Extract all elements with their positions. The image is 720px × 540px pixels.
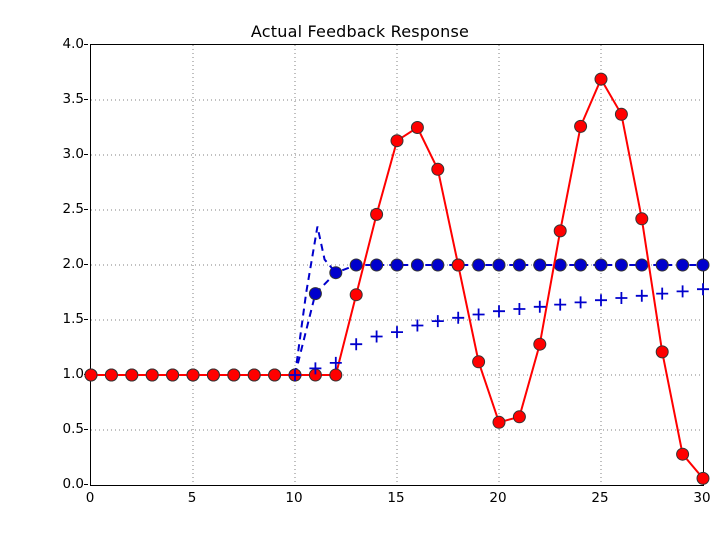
data-point-marker (85, 369, 97, 381)
y-tick-mark (84, 484, 88, 485)
data-point-marker (350, 289, 362, 301)
data-point-marker (248, 369, 260, 381)
y-tick-mark (84, 319, 88, 320)
data-point-marker (534, 338, 546, 350)
data-point-marker (615, 292, 627, 304)
data-point-marker (656, 346, 668, 358)
data-point-marker (350, 338, 362, 350)
data-point-marker (371, 259, 383, 271)
series-overshoot-spike (295, 227, 336, 376)
y-tick-mark (84, 99, 88, 100)
data-point-marker (207, 369, 219, 381)
data-point-marker (636, 290, 648, 302)
data-point-marker (411, 122, 423, 134)
data-point-marker (595, 294, 607, 306)
y-tick-label: 3.0 (40, 146, 84, 162)
data-point-marker (452, 312, 464, 324)
data-point-marker (187, 369, 199, 381)
x-tick-label: 10 (274, 490, 314, 506)
data-point-marker (677, 285, 689, 297)
data-point-marker (228, 369, 240, 381)
y-tick-label: 1.5 (40, 311, 84, 327)
data-point-marker (391, 259, 403, 271)
data-point-marker (697, 472, 709, 484)
y-tick-mark (84, 209, 88, 210)
data-point-marker (432, 259, 444, 271)
y-tick-mark (84, 264, 88, 265)
series-line (91, 265, 703, 375)
data-point-marker (105, 369, 117, 381)
data-point-marker (513, 411, 525, 423)
data-point-marker (432, 315, 444, 327)
x-tick-label: 15 (376, 490, 416, 506)
figure-canvas: Actual Feedback Response 0.00.51.01.52.0… (0, 0, 720, 540)
data-point-marker (513, 303, 525, 315)
data-point-marker (167, 369, 179, 381)
y-tick-label: 2.0 (40, 256, 84, 272)
series-line (295, 227, 336, 376)
data-point-marker (371, 331, 383, 343)
data-point-marker (126, 369, 138, 381)
y-tick-mark (84, 429, 88, 430)
data-point-marker (636, 259, 648, 271)
y-tick-label: 1.0 (40, 366, 84, 382)
page-title: Actual Feedback Response (0, 22, 720, 41)
data-point-marker (513, 259, 525, 271)
data-point-marker (595, 259, 607, 271)
data-point-marker (575, 296, 587, 308)
y-tick-mark (84, 154, 88, 155)
data-point-marker (330, 369, 342, 381)
data-point-marker (656, 259, 668, 271)
data-point-marker (473, 259, 485, 271)
data-point-marker (595, 73, 607, 85)
y-tick-mark (84, 44, 88, 45)
x-tick-label: 5 (172, 490, 212, 506)
data-point-marker (554, 259, 566, 271)
series-setpoint-reference (85, 259, 709, 381)
data-point-marker (473, 356, 485, 368)
data-point-marker (575, 120, 587, 132)
data-point-marker (473, 309, 485, 321)
x-tick-label: 0 (70, 490, 110, 506)
x-tick-label: 20 (478, 490, 518, 506)
data-point-marker (493, 259, 505, 271)
data-point-marker (411, 259, 423, 271)
x-tick-label: 30 (682, 490, 720, 506)
y-tick-label: 2.5 (40, 201, 84, 217)
y-tick-label: 0.5 (40, 421, 84, 437)
data-point-marker (432, 163, 444, 175)
data-series-layer (91, 45, 703, 485)
data-point-marker (575, 259, 587, 271)
data-point-marker (493, 305, 505, 317)
data-point-marker (269, 369, 281, 381)
y-axis-tick-labels: 0.00.51.01.52.02.53.03.54.0 (36, 44, 84, 484)
y-tick-label: 3.5 (40, 91, 84, 107)
plot-axes (90, 44, 704, 486)
data-point-marker (309, 288, 321, 300)
data-point-marker (350, 259, 362, 271)
data-point-marker (554, 299, 566, 311)
series-actual-response (85, 73, 709, 484)
data-point-marker (615, 108, 627, 120)
data-point-marker (411, 320, 423, 332)
data-point-marker (371, 208, 383, 220)
data-point-marker (534, 259, 546, 271)
x-axis-tick-labels: 051015202530 (90, 490, 702, 512)
data-point-marker (391, 326, 403, 338)
data-point-marker (554, 225, 566, 237)
x-tick-label: 25 (580, 490, 620, 506)
data-point-marker (493, 416, 505, 428)
data-point-marker (697, 283, 709, 295)
data-point-marker (677, 259, 689, 271)
data-point-marker (697, 259, 709, 271)
data-point-marker (636, 213, 648, 225)
data-point-marker (452, 259, 464, 271)
data-point-marker (615, 259, 627, 271)
data-point-marker (534, 301, 546, 313)
y-tick-label: 4.0 (40, 36, 84, 52)
data-point-marker (391, 135, 403, 147)
data-point-marker (656, 288, 668, 300)
data-point-marker (146, 369, 158, 381)
data-point-marker (677, 448, 689, 460)
